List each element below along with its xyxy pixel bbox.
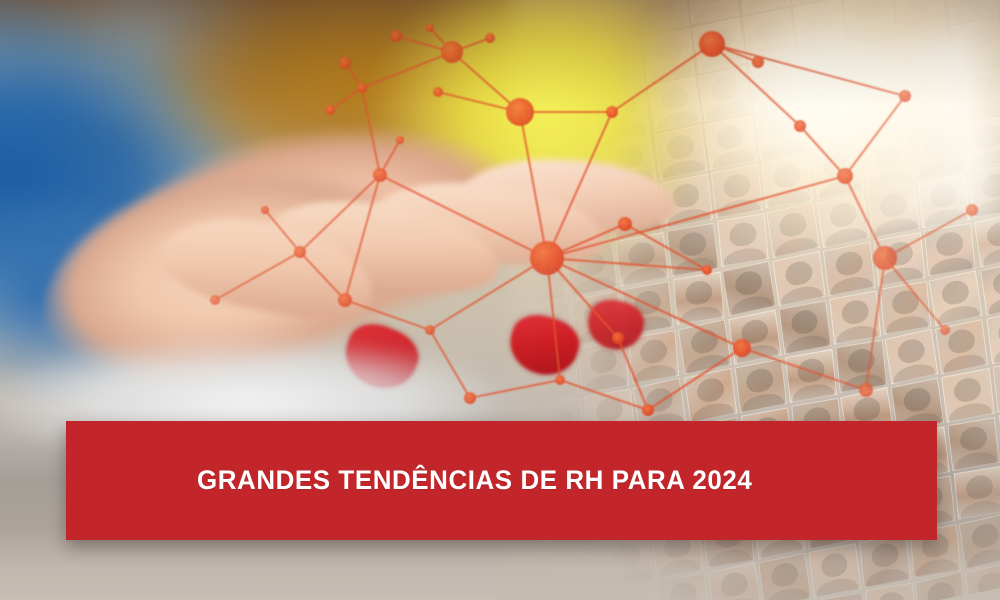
mosaic-tile bbox=[707, 562, 761, 600]
page-title: GRANDES TENDÊNCIAS DE RH PARA 2024 bbox=[197, 465, 752, 496]
mosaic-tile bbox=[948, 417, 1000, 471]
title-banner: GRANDES TENDÊNCIAS DE RH PARA 2024 bbox=[66, 421, 937, 540]
mosaic-tile bbox=[836, 339, 888, 393]
mosaic-tile bbox=[885, 328, 939, 384]
mosaic-tile bbox=[658, 573, 710, 600]
mosaic-tile bbox=[758, 553, 812, 600]
mosaic-tile bbox=[601, 534, 654, 589]
mosaic-tile bbox=[785, 349, 837, 403]
mosaic-tile bbox=[954, 466, 1000, 520]
mosaic-tile bbox=[808, 543, 861, 598]
mosaic-tile bbox=[959, 513, 1000, 569]
mosaic-tile bbox=[859, 534, 911, 588]
mosaic-tile bbox=[550, 543, 604, 598]
mosaic-tile bbox=[684, 368, 738, 423]
hero-banner-image: GRANDES TENDÊNCIAS DE RH PARA 2024 bbox=[0, 0, 1000, 600]
mosaic-tile bbox=[942, 368, 995, 423]
mosaic-tile bbox=[734, 358, 787, 413]
